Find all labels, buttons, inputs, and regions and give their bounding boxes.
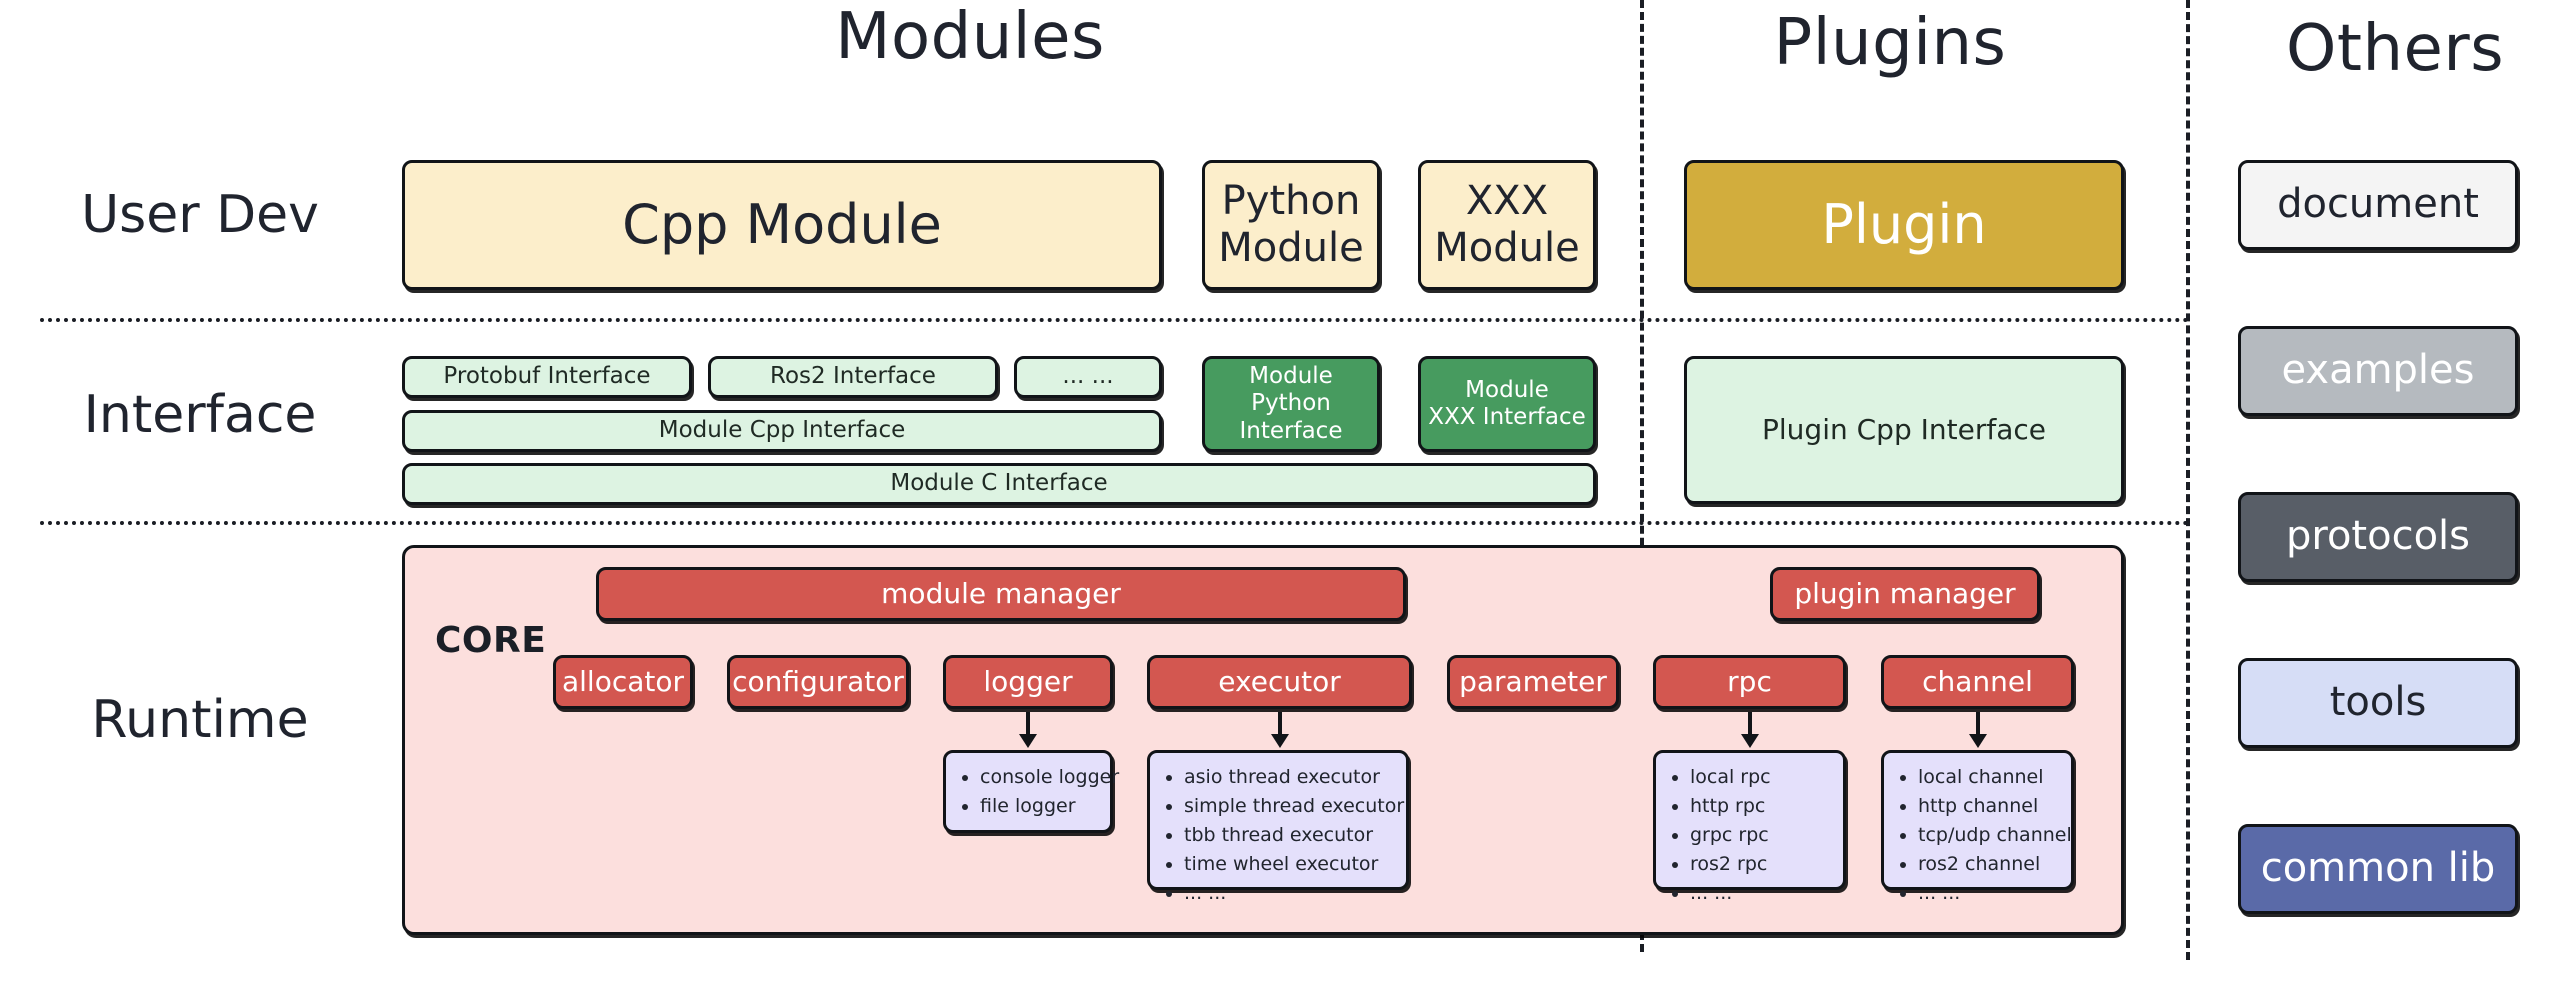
module-c-interface-label: Module C Interface [890,470,1107,497]
divider-interface-runtime [40,521,2190,525]
plugin-manager-label: plugin manager [1794,577,2015,610]
component-executor-box[interactable]: executor [1147,655,1412,709]
module-manager-box[interactable]: module manager [596,567,1406,621]
module-c-interface-box[interactable]: Module C Interface [402,463,1596,505]
row-title-user-dev: User Dev [20,185,380,245]
ros2-interface-label: Ros2 Interface [770,363,936,390]
list-item: time wheel executor [1184,850,1398,879]
component-parameter-box[interactable]: parameter [1447,655,1619,709]
list-item: http rpc [1690,792,1835,821]
core-label: CORE [435,620,546,661]
xxx-module-label-line2: Module [1434,225,1579,272]
list-item: local rpc [1690,763,1835,792]
python-module-label-line1: Python [1222,178,1361,225]
component-channel-box[interactable]: channel [1881,655,2074,709]
logger-down-arrow-icon [1013,710,1043,750]
plugin-box[interactable]: Plugin [1684,160,2124,290]
others-item-protocols-box[interactable]: protocols [2238,492,2518,582]
ros2-interface-box[interactable]: Ros2 Interface [708,356,998,398]
component-parameter-label: parameter [1459,665,1607,698]
module-python-interface-box[interactable]: Module Python Interface [1202,356,1380,452]
python-module-box[interactable]: Python Module [1202,160,1380,290]
module-cpp-interface-box[interactable]: Module Cpp Interface [402,410,1162,452]
column-title-modules: Modules [760,0,1180,74]
component-logger-box[interactable]: logger [943,655,1113,709]
architecture-diagram: Modules Plugins Others User Dev Interfac… [0,0,2560,984]
xxx-module-label-line1: XXX [1466,178,1548,225]
plugin-cpp-interface-box[interactable]: Plugin Cpp Interface [1684,356,2124,504]
channel-down-arrow-icon [1963,710,1993,750]
module-manager-label: module manager [881,577,1121,610]
component-logger-label: logger [983,665,1072,698]
plugin-label: Plugin [1821,193,1986,257]
logger-implementations-list: console logger file logger [943,750,1113,833]
list-item: local channel [1918,763,2063,792]
list-item: ... ... [1690,879,1835,908]
component-configurator-box[interactable]: configurator [727,655,909,709]
others-item-tools-box[interactable]: tools [2238,658,2518,748]
component-allocator-box[interactable]: allocator [553,655,693,709]
component-allocator-label: allocator [562,665,684,698]
other-interface-ellipsis-box[interactable]: ... ... [1014,356,1162,398]
module-xxx-interface-label-line2: XXX Interface [1428,404,1586,431]
list-item: ... ... [1184,879,1398,908]
list-item: grpc rpc [1690,821,1835,850]
logger-implementations-ul: console logger file logger [960,763,1102,821]
module-python-interface-label-line2: Python Interface [1205,390,1377,444]
xxx-module-box[interactable]: XXX Module [1418,160,1596,290]
others-item-common-lib-label: common lib [2261,845,2496,892]
protobuf-interface-box[interactable]: Protobuf Interface [402,356,692,398]
channel-implementations-list: local channel http channel tcp/udp chann… [1881,750,2074,890]
component-configurator-label: configurator [732,665,904,698]
others-item-tools-label: tools [2330,679,2427,726]
list-item: tbb thread executor [1184,821,1398,850]
protobuf-interface-label: Protobuf Interface [443,363,650,390]
list-item: http channel [1918,792,2063,821]
list-item: asio thread executor [1184,763,1398,792]
module-python-interface-label-line1: Module [1249,363,1333,390]
rpc-implementations-ul: local rpc http rpc grpc rpc ros2 rpc ...… [1670,763,1835,907]
list-item: console logger [980,763,1102,792]
divider-user-dev-interface [40,318,2190,322]
row-title-runtime: Runtime [20,690,380,750]
component-executor-label: executor [1218,665,1340,698]
plugin-cpp-interface-label: Plugin Cpp Interface [1762,413,2046,446]
rpc-down-arrow-icon [1735,710,1765,750]
plugin-manager-box[interactable]: plugin manager [1770,567,2040,621]
executor-implementations-list: asio thread executor simple thread execu… [1147,750,1409,890]
executor-down-arrow-icon [1265,710,1295,750]
others-item-document-box[interactable]: document [2238,160,2518,250]
column-title-plugins: Plugins [1680,6,2100,80]
cpp-module-label: Cpp Module [622,193,942,257]
component-rpc-box[interactable]: rpc [1653,655,1846,709]
others-item-document-label: document [2277,181,2479,228]
python-module-label-line2: Module [1218,225,1363,272]
list-item: ros2 rpc [1690,850,1835,879]
list-item: ... ... [1918,879,2063,908]
others-item-protocols-label: protocols [2286,513,2470,560]
list-item: tcp/udp channel [1918,821,2063,850]
column-title-others: Others [2230,12,2560,86]
component-channel-label: channel [1922,665,2033,698]
executor-implementations-ul: asio thread executor simple thread execu… [1164,763,1398,907]
list-item: ros2 channel [1918,850,2063,879]
rpc-implementations-list: local rpc http rpc grpc rpc ros2 rpc ...… [1653,750,1846,890]
divider-plugins-others [2186,0,2190,960]
others-item-examples-box[interactable]: examples [2238,326,2518,416]
row-title-interface: Interface [20,385,380,445]
cpp-module-box[interactable]: Cpp Module [402,160,1162,290]
module-xxx-interface-label-line1: Module [1465,377,1549,404]
other-interface-ellipsis-label: ... ... [1062,363,1113,390]
others-item-examples-label: examples [2281,347,2474,394]
module-xxx-interface-box[interactable]: Module XXX Interface [1418,356,1596,452]
list-item: simple thread executor [1184,792,1398,821]
channel-implementations-ul: local channel http channel tcp/udp chann… [1898,763,2063,907]
module-cpp-interface-label: Module Cpp Interface [659,417,906,444]
component-rpc-label: rpc [1727,665,1772,698]
list-item: file logger [980,792,1102,821]
others-item-common-lib-box[interactable]: common lib [2238,824,2518,914]
